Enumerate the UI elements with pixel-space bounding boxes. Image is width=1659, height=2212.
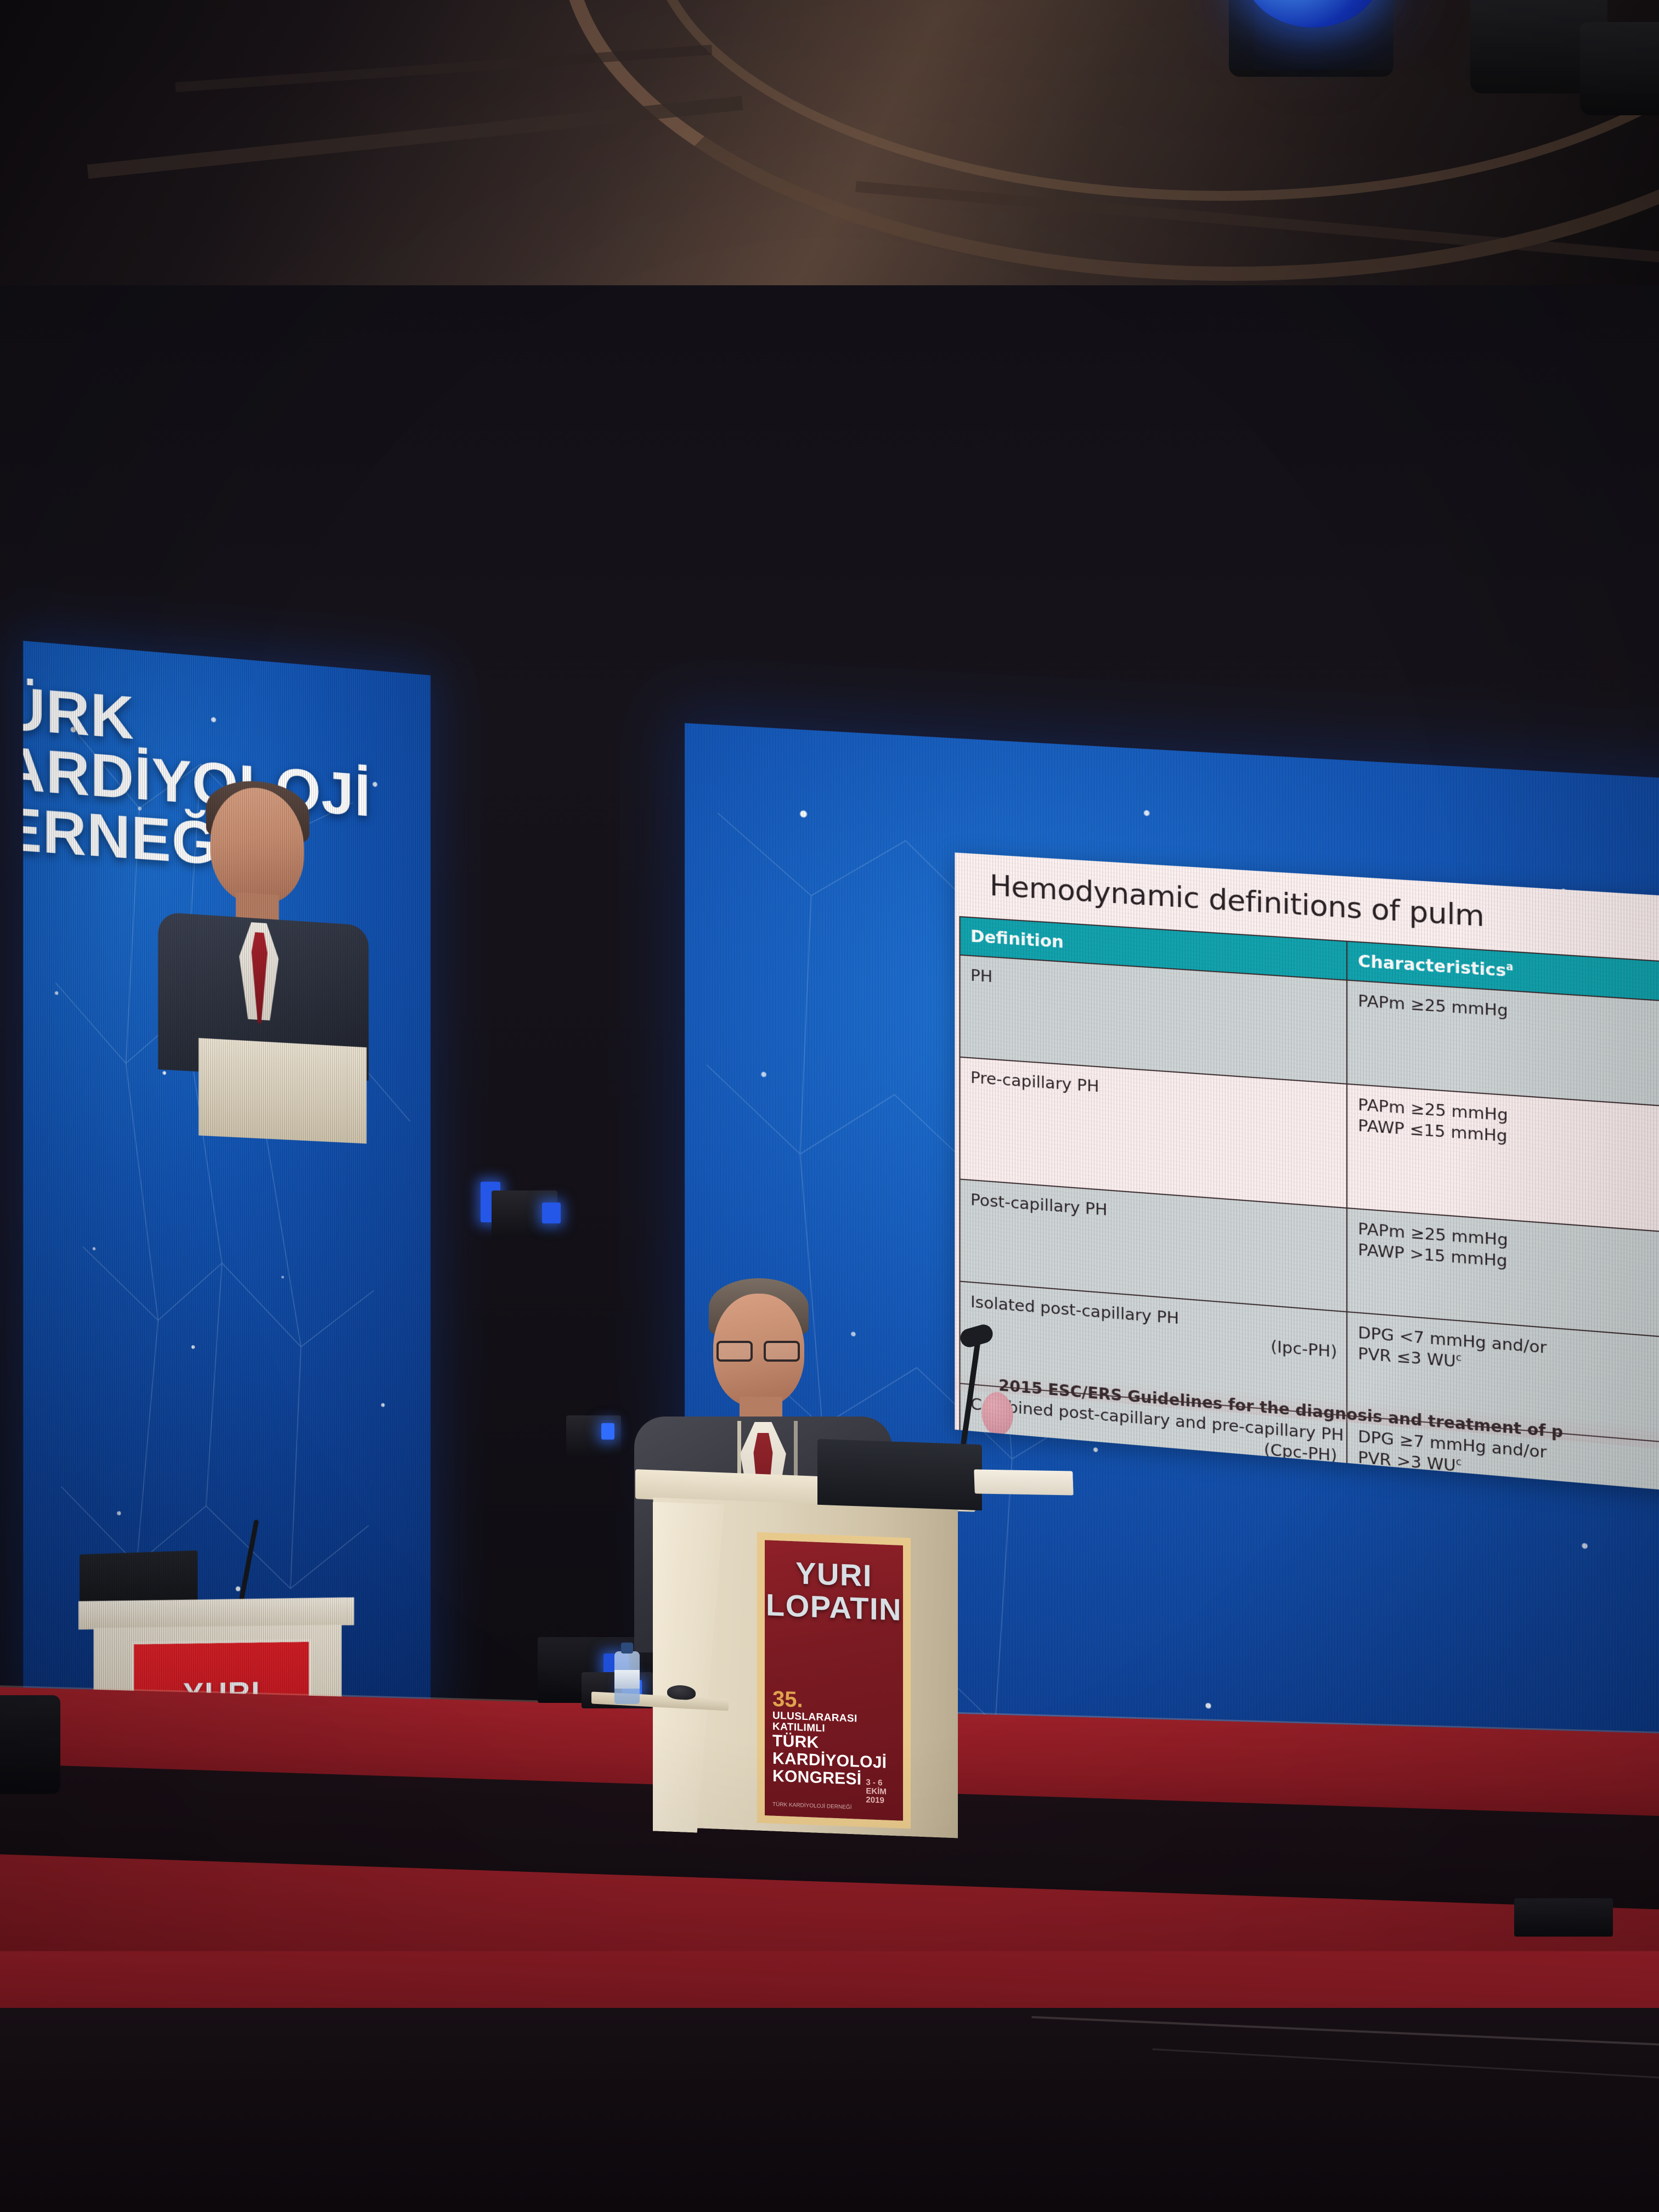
left-led-wall: ÜRK ARDİYOLOJİ ERNEĞİ YURI LOPATIN [23,641,431,1705]
stage-equipment [481,1178,579,1244]
podium-speaker-nameplate: YURI LOPATIN 35. ULUSLARARASI KATILIMLI … [757,1532,911,1829]
equipment-case [0,1695,60,1794]
nameplate-line-1: YURI [795,1556,872,1593]
conference-stage-photo: ÜRK ARDİYOLOJİ ERNEĞİ YURI LOPATIN [0,0,1659,2212]
speaker-podium: YURI LOPATIN 35. ULUSLARARASI KATILIMLI … [653,1476,960,1838]
congress-name-line-2: KONGRESİ [772,1767,861,1788]
characteristic-superscript: c [1456,1456,1462,1469]
stage-side-speaker-cabinet [0,1695,66,1805]
led-video-laptop [80,1550,198,1607]
ceiling-beam [87,96,743,179]
header-superscript: a [1506,961,1513,974]
eyeglasses-icon [716,1341,800,1357]
characteristic-line: PAPm ≥25 mmHg [1358,991,1508,1020]
video-podium [199,1038,366,1144]
stage-light-fixture [1580,22,1659,126]
characteristic-superscript: c [1456,1352,1462,1364]
nameplate-line-2: LOPATIN [766,1589,902,1627]
speaker-video-feed [151,780,372,1074]
stage-equipment [1514,1898,1624,1948]
presentation-slide: Hemodynamic definitions of pulm Definiti… [955,853,1659,1500]
equipment-case [1514,1898,1613,1937]
equipment-blue-led-icon [601,1423,614,1440]
equipment-blue-led-icon [542,1203,561,1223]
stage-light-fixture [1229,0,1404,99]
venue-ceiling [0,0,1659,307]
congress-name-line-1: TÜRK KARDİYOLOJİ [772,1733,898,1772]
stage-light-housing [1580,22,1659,115]
printed-papers [974,1469,1073,1495]
congress-dates: 3 - 6 EKİM 2019 [866,1778,898,1805]
congress-branding-block: 35. ULUSLARARASI KATILIMLI TÜRK KARDİYOL… [772,1687,898,1813]
water-bottle [614,1651,640,1704]
floor-foreground [0,2008,1659,2212]
presenter-laptop[interactable] [817,1439,982,1510]
